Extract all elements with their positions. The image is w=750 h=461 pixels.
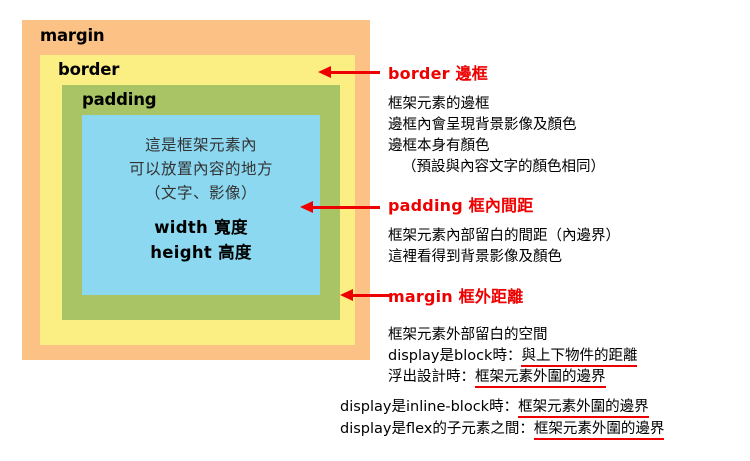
padding-box: padding 這是框架元素內 可以放置內容的地方 （文字、影像） width … [62, 85, 340, 320]
margin-line-3-underlined: 框架元素外圍的邊界 [475, 369, 606, 388]
content-line-1: 這是框架元素內 [82, 133, 320, 157]
margin-annotation-line-1: 框架元素外部留白的空間 [388, 325, 637, 346]
margin-annotation-body: 框架元素外部留白的空間 display是block時：與上下物件的距離 浮出設計… [388, 325, 637, 388]
margin-box-label: margin [40, 26, 104, 45]
extra-line-2: display是flex的子元素之間：框架元素外圍的邊界 [340, 418, 664, 440]
content-line-3: （文字、影像） [82, 181, 320, 205]
margin-annotation: margin 框外距離 框架元素外部留白的空間 display是block時：與… [388, 283, 637, 388]
border-annotation: border 邊框 框架元素的邊框 邊框內會呈現背景影像及顏色 邊框本身有顏色 … [388, 60, 605, 178]
margin-annotation-line-2: display是block時：與上下物件的距離 [388, 346, 637, 367]
border-box: border padding 這是框架元素內 可以放置內容的地方 （文字、影像）… [40, 55, 355, 345]
margin-annotation-heading: margin 框外距離 [388, 283, 637, 307]
border-annotation-line-2: 邊框內會呈現背景影像及顏色 [388, 115, 605, 136]
margin-box: margin border padding 這是框架元素內 可以放置內容的地方 … [22, 20, 370, 360]
extra-line-1-prefix: display是inline-block時： [340, 399, 518, 415]
border-annotation-heading: border 邊框 [388, 60, 605, 84]
extra-line-1: display是inline-block時：框架元素外圍的邊界 [340, 396, 664, 418]
border-annotation-body: 框架元素的邊框 邊框內會呈現背景影像及顏色 邊框本身有顏色 （預設與內容文字的顏… [388, 94, 605, 178]
border-box-label: border [58, 60, 119, 79]
content-box-description: 這是框架元素內 可以放置內容的地方 （文字、影像） [82, 133, 320, 205]
padding-box-label: padding [82, 90, 156, 109]
content-line-2: 可以放置內容的地方 [82, 157, 320, 181]
padding-annotation-body: 框架元素內部留白的間距（內邊界） 這裡看得到背景影像及顏色 [388, 226, 620, 268]
padding-annotation-line-2: 這裡看得到背景影像及顏色 [388, 247, 620, 268]
padding-annotation: padding 框內間距 框架元素內部留白的間距（內邊界） 這裡看得到背景影像及… [388, 192, 620, 268]
box-model-diagram-page: margin border padding 這是框架元素內 可以放置內容的地方 … [0, 0, 750, 461]
margin-line-2-prefix: display是block時： [388, 348, 521, 364]
border-annotation-line-3: 邊框本身有顏色 [388, 136, 605, 157]
padding-annotation-heading: padding 框內間距 [388, 192, 620, 216]
width-label: width 寬度 [82, 215, 320, 240]
extra-line-2-underlined: 框架元素外圍的邊界 [534, 421, 665, 440]
content-box-dimensions: width 寬度 height 高度 [82, 215, 320, 265]
border-annotation-line-1: 框架元素的邊框 [388, 94, 605, 115]
extra-line-1-underlined: 框架元素外圍的邊界 [518, 399, 649, 418]
margin-annotation-extra: display是inline-block時：框架元素外圍的邊界 display是… [340, 396, 664, 440]
margin-line-2-underlined: 與上下物件的距離 [521, 348, 637, 367]
height-label: height 高度 [82, 240, 320, 265]
margin-annotation-line-3: 浮出設計時：框架元素外圍的邊界 [388, 367, 637, 388]
content-box: 這是框架元素內 可以放置內容的地方 （文字、影像） width 寬度 heigh… [82, 115, 320, 295]
border-annotation-line-4: （預設與內容文字的顏色相同） [388, 157, 605, 178]
margin-line-3-prefix: 浮出設計時： [388, 369, 475, 385]
padding-annotation-line-1: 框架元素內部留白的間距（內邊界） [388, 226, 620, 247]
extra-line-2-prefix: display是flex的子元素之間： [340, 421, 534, 437]
